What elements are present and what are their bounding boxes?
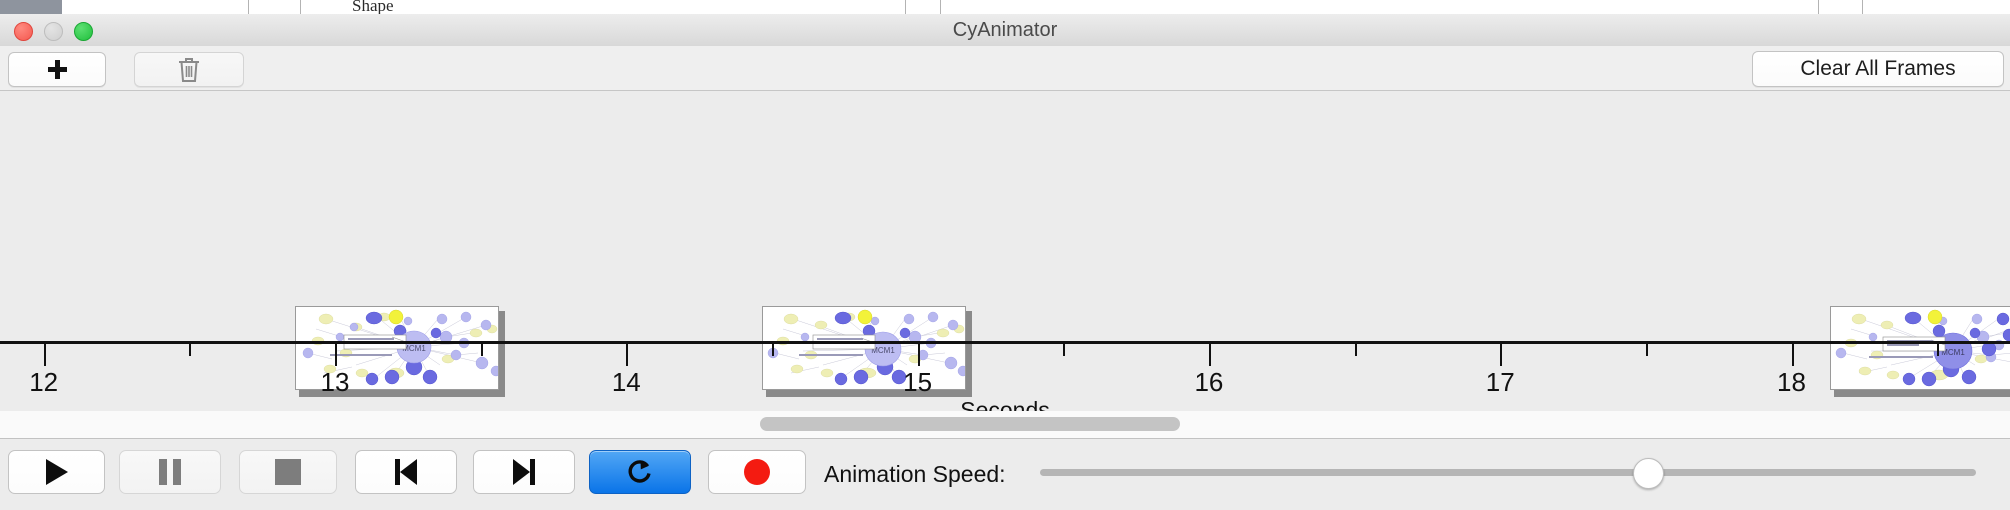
- axis-tick-label: 15: [903, 367, 932, 398]
- timeline-axis[interactable]: 12131415161718 Seconds: [0, 341, 2010, 411]
- axis-tick-minor: [481, 344, 483, 356]
- slider-track[interactable]: [1040, 469, 1976, 476]
- axis-tick-label: 12: [29, 367, 58, 398]
- playback-bar: Animation Speed:: [0, 439, 2010, 510]
- background-window-strip: Shape: [0, 0, 2010, 14]
- delete-frame-button[interactable]: [134, 52, 244, 87]
- timeline-scrollbar[interactable]: [0, 411, 2010, 439]
- skip-forward-button[interactable]: [473, 450, 575, 494]
- pause-icon: [159, 459, 181, 485]
- clear-all-frames-button[interactable]: Clear All Frames: [1752, 51, 2004, 87]
- toolbar: Clear All Frames: [0, 46, 2010, 91]
- scrollbar-thumb[interactable]: [760, 417, 1180, 431]
- pause-button[interactable]: [119, 450, 221, 494]
- window-title: CyAnimator: [0, 14, 2010, 46]
- animation-speed-slider[interactable]: [1040, 469, 1976, 477]
- axis-tick-minor: [1063, 344, 1065, 356]
- add-frame-button[interactable]: [8, 52, 106, 87]
- animation-speed-label: Animation Speed:: [824, 461, 1006, 488]
- axis-tick-major: [1792, 344, 1794, 366]
- axis-tick-label: 17: [1486, 367, 1515, 398]
- slider-thumb[interactable]: [1633, 458, 1664, 489]
- play-icon: [46, 459, 68, 485]
- axis-title: Seconds: [0, 397, 2010, 412]
- skip-back-icon: [395, 459, 417, 485]
- record-button[interactable]: [708, 450, 806, 494]
- loop-icon: [625, 457, 655, 487]
- plus-icon: [48, 60, 67, 79]
- loop-button[interactable]: [589, 450, 691, 494]
- axis-line: [0, 341, 2010, 344]
- axis-tick-minor: [772, 344, 774, 356]
- stop-button[interactable]: [239, 450, 337, 494]
- axis-tick-major: [335, 344, 337, 366]
- trash-icon: [177, 56, 201, 84]
- cyanimator-window: Shape CyAnimator Clear All Frames: [0, 0, 2010, 510]
- axis-tick-minor: [189, 344, 191, 356]
- axis-tick-minor: [1937, 344, 1939, 356]
- axis-tick-major: [1209, 344, 1211, 366]
- stop-icon: [275, 459, 301, 485]
- axis-tick-major: [44, 344, 46, 366]
- axis-tick-minor: [1646, 344, 1648, 356]
- background-window-label: Shape: [352, 0, 394, 14]
- timeline-panel[interactable]: MCM1: [0, 91, 2010, 412]
- axis-tick-minor: [1355, 344, 1357, 356]
- title-bar: CyAnimator: [0, 14, 2010, 47]
- axis-tick-major: [918, 344, 920, 366]
- axis-tick-label: 18: [1777, 367, 1806, 398]
- axis-tick-label: 16: [1194, 367, 1223, 398]
- axis-tick-major: [626, 344, 628, 366]
- clear-all-frames-label: Clear All Frames: [1800, 57, 1955, 81]
- play-button[interactable]: [8, 450, 105, 494]
- axis-tick-major: [1500, 344, 1502, 366]
- skip-back-button[interactable]: [355, 450, 457, 494]
- axis-tick-label: 14: [612, 367, 641, 398]
- axis-tick-label: 13: [321, 367, 350, 398]
- skip-forward-icon: [513, 459, 535, 485]
- record-icon: [744, 459, 770, 485]
